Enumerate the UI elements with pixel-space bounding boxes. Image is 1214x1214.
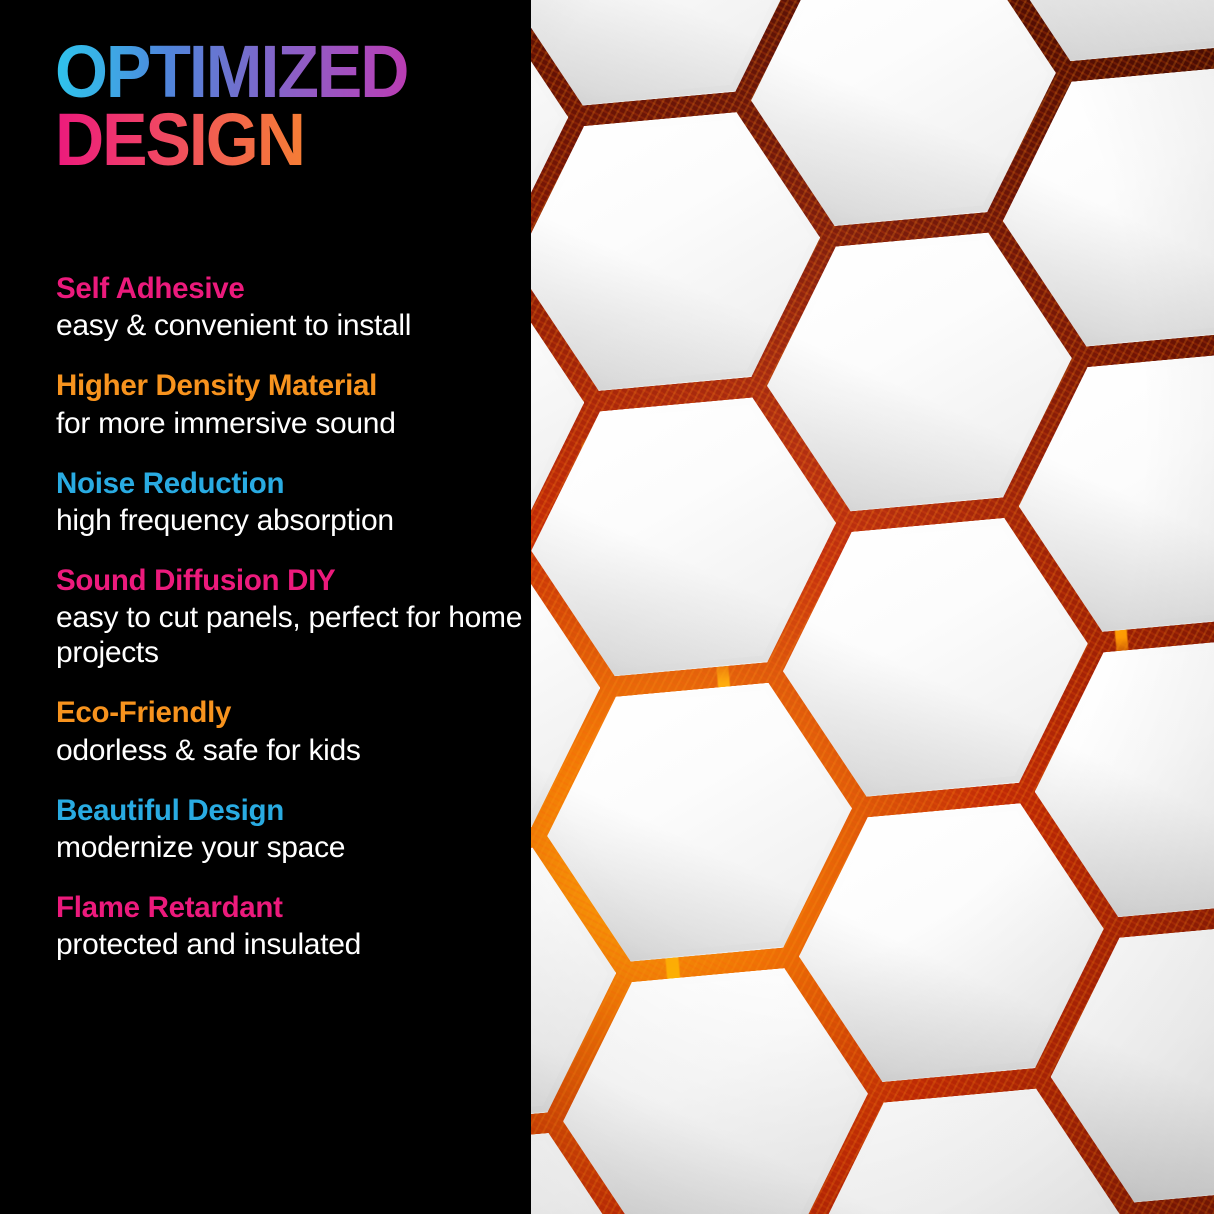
feature-heading: Noise Reduction	[56, 467, 526, 501]
feature-item-flame-retardant: Flame Retardant protected and insulated	[56, 891, 526, 962]
feature-heading: Sound Diffusion DIY	[56, 564, 526, 598]
hexagon-panel	[555, 961, 875, 1214]
hexagon-panel	[775, 511, 1095, 804]
feature-description: easy to cut panels, perfect for home pro…	[56, 600, 526, 670]
feature-item-eco-friendly: Eco-Friendly odorless & safe for kids	[56, 696, 526, 767]
feature-item-beautiful-design: Beautiful Design modernize your space	[56, 794, 526, 865]
feature-heading: Self Adhesive	[56, 272, 526, 306]
feature-item-self-adhesive: Self Adhesive easy & convenient to insta…	[56, 272, 526, 343]
feature-description: high frequency absorption	[56, 503, 526, 538]
feature-description: for more immersive sound	[56, 406, 526, 441]
feature-heading: Beautiful Design	[56, 794, 526, 828]
feature-description: odorless & safe for kids	[56, 733, 526, 768]
hexagon-panel	[791, 797, 1111, 1090]
title-line-design: DESIGN	[55, 106, 478, 174]
text-panel: OPTIMIZED DESIGN Self Adhesive easy & co…	[0, 0, 531, 1214]
feature-item-higher-density-material: Higher Density Material for more immersi…	[56, 369, 526, 440]
hexagon-panel	[531, 391, 843, 684]
feature-heading: Eco-Friendly	[56, 696, 526, 730]
hexagon-panel-grid	[531, 0, 1214, 1214]
feature-item-sound-diffusion-diy: Sound Diffusion DIY easy to cut panels, …	[56, 564, 526, 670]
feature-heading: Flame Retardant	[56, 891, 526, 925]
feature-description: protected and insulated	[56, 927, 526, 962]
feature-item-noise-reduction: Noise Reduction high frequency absorptio…	[56, 467, 526, 538]
product-photo-hexagon-panels	[531, 0, 1214, 1214]
hexagon-panel	[759, 226, 1079, 519]
feature-description: easy & convenient to install	[56, 308, 526, 343]
title-line-optimized: OPTIMIZED	[55, 38, 478, 106]
page-title: OPTIMIZED DESIGN	[55, 38, 515, 174]
feature-list: Self Adhesive easy & convenient to insta…	[56, 272, 526, 988]
feature-description: modernize your space	[56, 830, 526, 865]
hexagon-panel	[540, 676, 860, 969]
infographic-page: OPTIMIZED DESIGN Self Adhesive easy & co…	[0, 0, 1214, 1214]
feature-heading: Higher Density Material	[56, 369, 526, 403]
